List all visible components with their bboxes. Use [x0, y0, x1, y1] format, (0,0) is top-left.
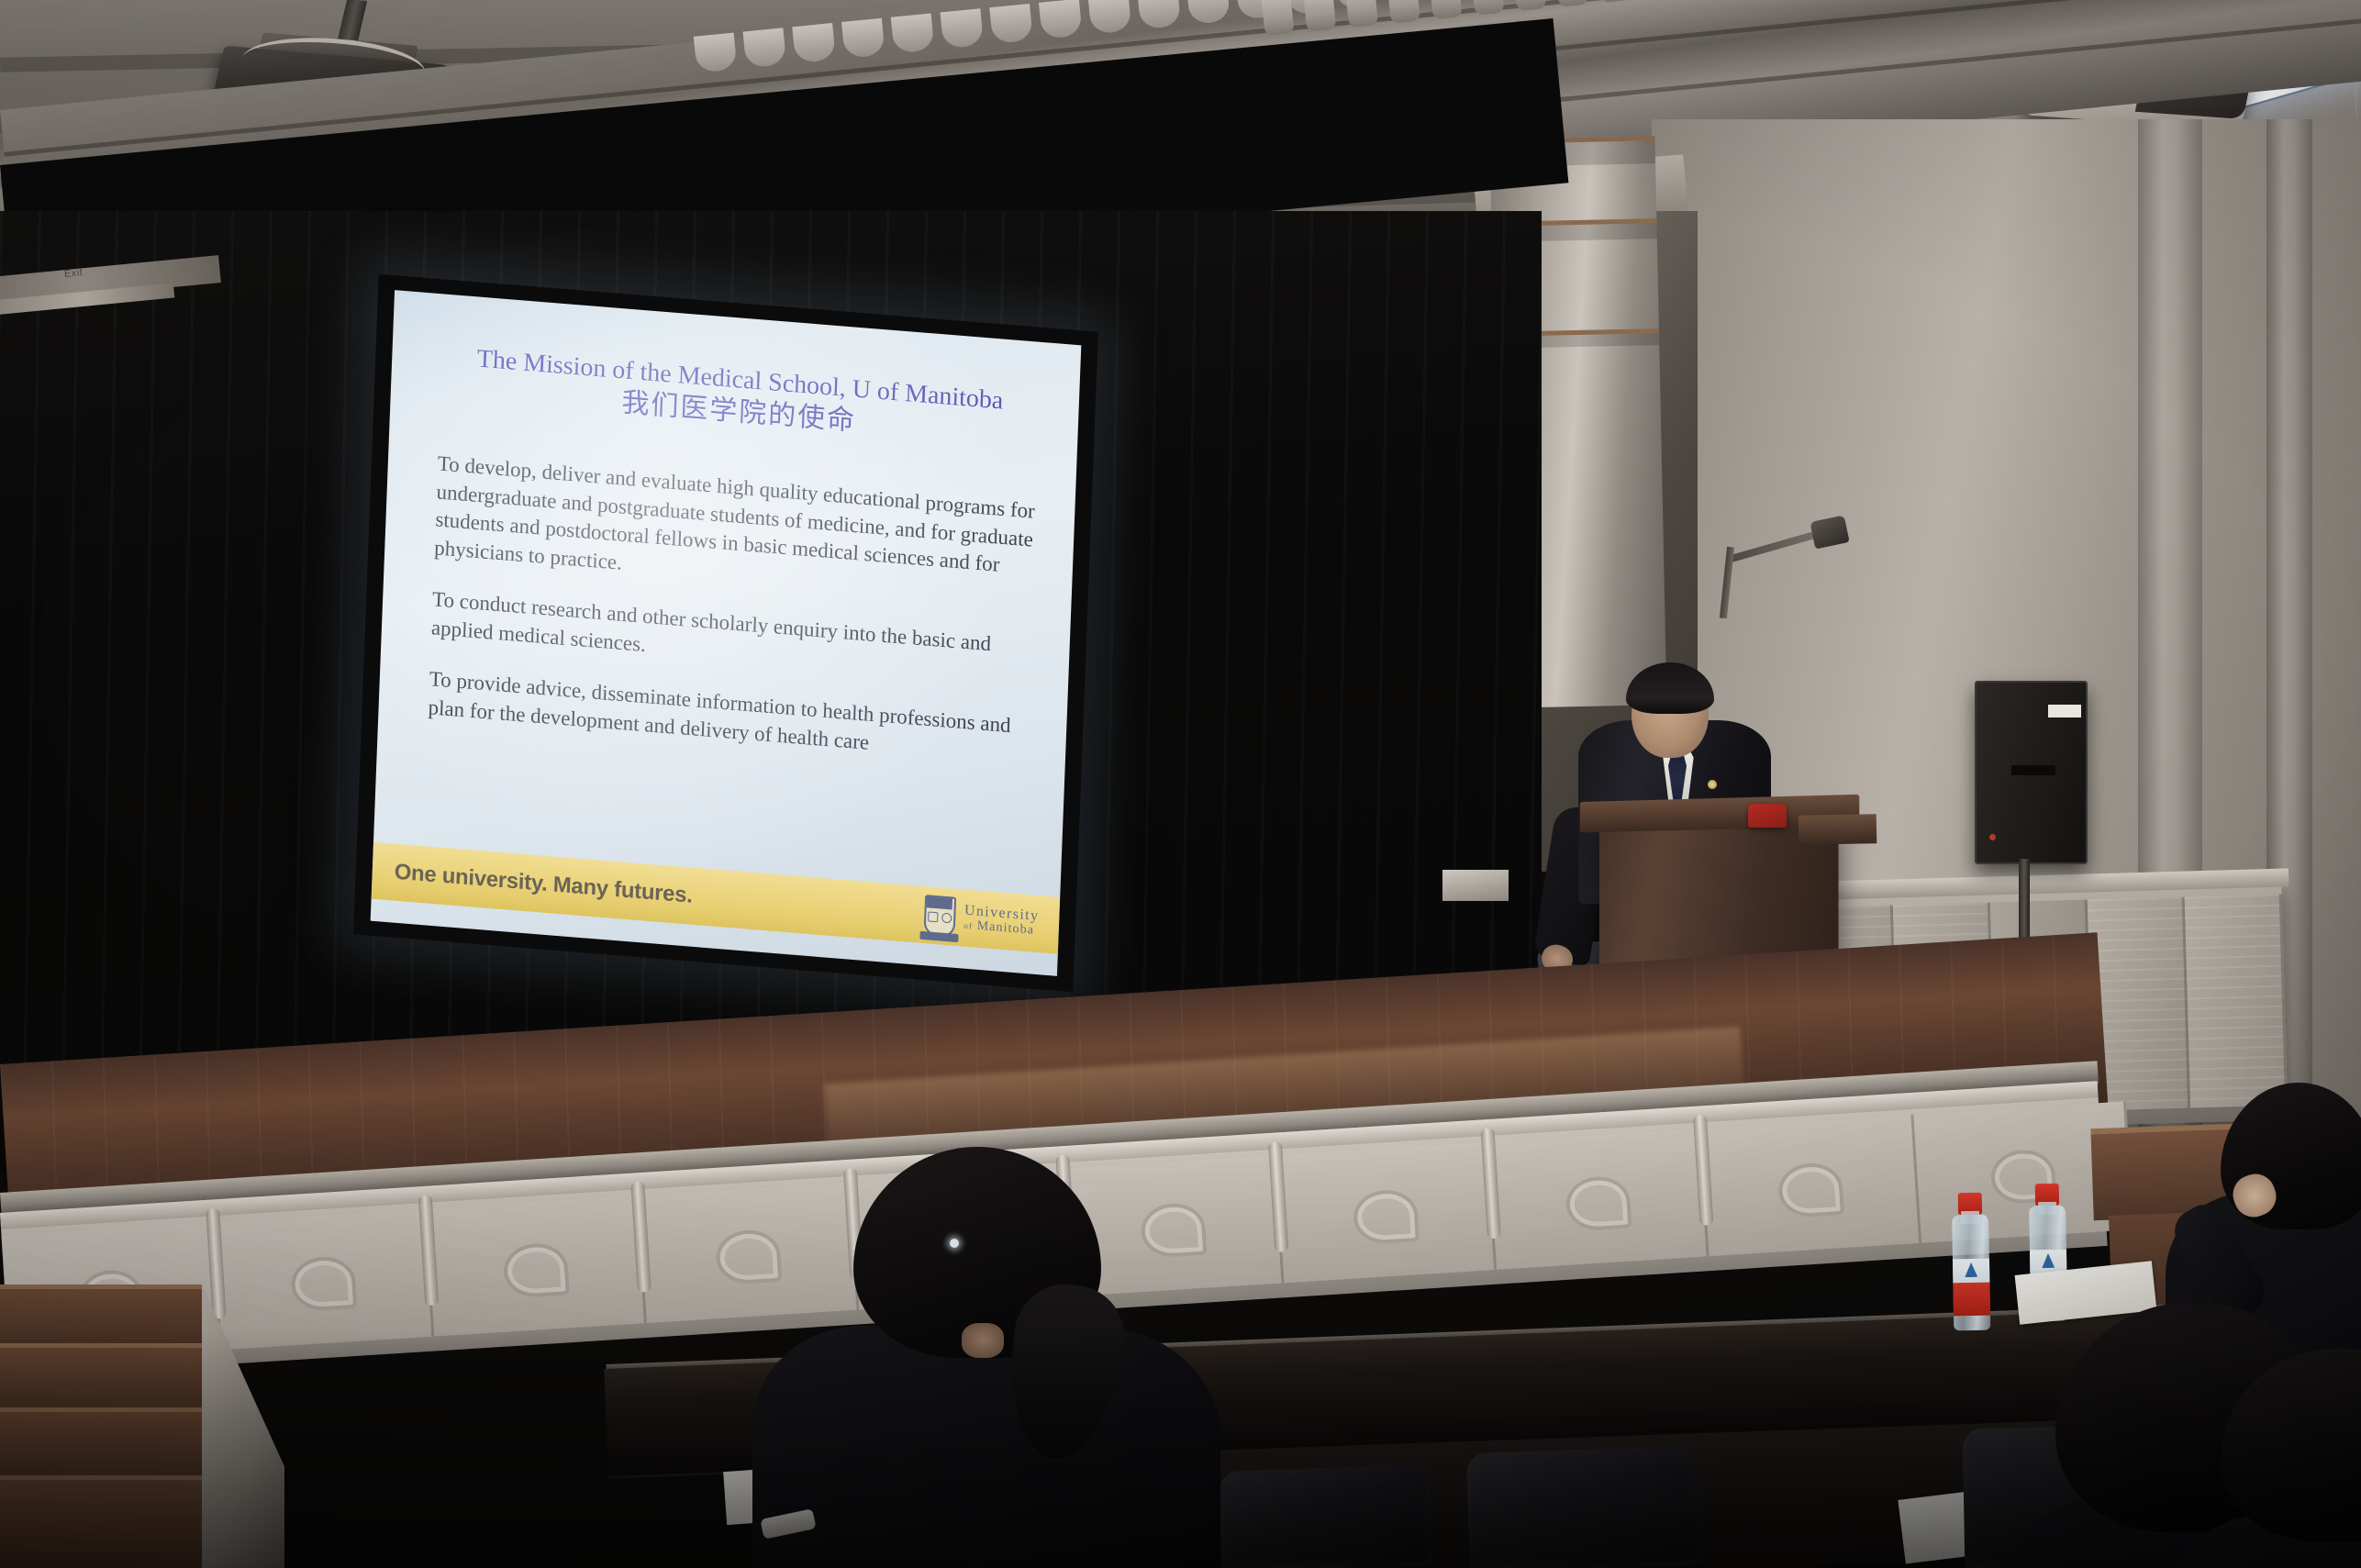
pa-speaker-handle [2011, 765, 2055, 775]
water-bottle[interactable] [1952, 1193, 1991, 1331]
university-logo: University of Manitoba [924, 895, 1040, 944]
podium-side-ledge [1799, 814, 1877, 844]
slide-title: The Mission of the Medical School, U of … [436, 341, 1042, 453]
apron-panel [639, 1182, 859, 1323]
stage-steps-left[interactable] [0, 1284, 284, 1568]
university-wordmark: University of Manitoba [963, 904, 1040, 939]
audience-torso [752, 1326, 1220, 1568]
stage-step-side-wall [202, 1284, 284, 1568]
apron-panel [1701, 1115, 1921, 1256]
apron-panel [427, 1195, 647, 1336]
audience-neck [962, 1323, 1004, 1358]
projection-screen: The Mission of the Medical School, U of … [353, 274, 1098, 993]
hair-clip-icon [950, 1239, 959, 1248]
crest-icon [924, 895, 957, 938]
red-object-on-podium [1748, 804, 1787, 828]
slide-paragraph-1: To develop, deliver and evaluate high qu… [434, 450, 1042, 610]
exit-sign-label: Exit [63, 267, 83, 280]
slide-tagline: One university. Many futures. [394, 860, 693, 909]
pa-speaker [1975, 681, 2088, 864]
auditorium-seat[interactable] [1219, 1464, 1433, 1568]
presenter-lapel-pin [1708, 780, 1717, 789]
auditorium-seat[interactable] [1466, 1446, 1699, 1568]
bottle-label-red [1953, 1283, 1990, 1317]
cabinet-door[interactable] [2185, 895, 2288, 1108]
apron-panel [1488, 1128, 1709, 1269]
logo-of: of [963, 921, 973, 931]
slide-surface: The Mission of the Medical School, U of … [371, 290, 1082, 976]
lecture-hall-scene: Exit The Mission of the Medical School, … [0, 0, 2361, 1568]
stage-step [0, 1284, 202, 1343]
pa-speaker-label [2048, 705, 2081, 717]
slide-body: To develop, deliver and evaluate high qu… [427, 450, 1042, 794]
stage-step [0, 1343, 229, 1407]
apron-panel [1276, 1141, 1497, 1283]
stage-equipment-box [1442, 870, 1509, 901]
pa-power-led-icon [1989, 834, 1996, 840]
